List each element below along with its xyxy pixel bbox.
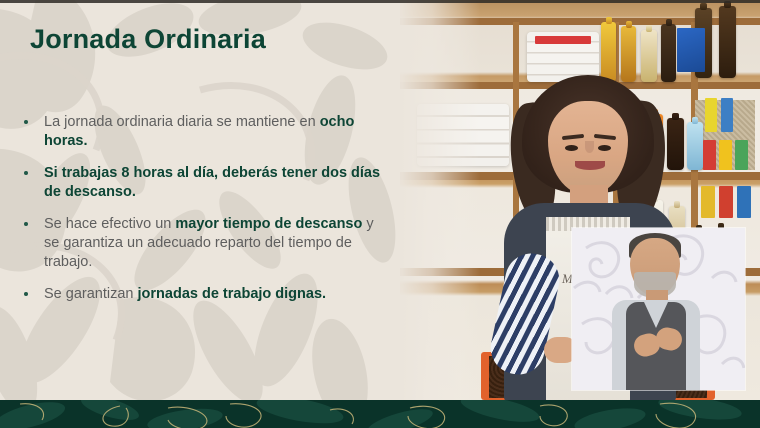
presentation-slide: Mony <box>0 0 760 428</box>
page-title: Jornada Ordinaria <box>30 24 266 55</box>
top-rule <box>0 0 760 3</box>
sign-language-interpreter-inset <box>572 228 745 390</box>
vinegar-bottle <box>661 24 676 82</box>
product-packet <box>735 140 748 170</box>
band-leaf-pattern <box>0 400 760 428</box>
product-packet <box>737 186 751 218</box>
bullet-list: La jornada ordinaria diaria se mantiene … <box>20 113 390 317</box>
sack-label <box>535 36 591 44</box>
list-item: La jornada ordinaria diaria se mantiene … <box>20 113 390 151</box>
list-item: Si trabajas 8 horas al día, deberás tene… <box>20 164 390 202</box>
list-item: Se hace efectivo un mayor tiempo de desc… <box>20 215 390 272</box>
water-bottle <box>687 122 703 170</box>
vinegar-bottle <box>719 6 736 78</box>
eyebrow <box>594 134 616 140</box>
oil-bottle <box>601 22 616 82</box>
list-item: Se garantizan jornadas de trabajo dignas… <box>20 285 390 304</box>
product-packet <box>701 186 715 218</box>
bottom-decorative-band <box>0 400 760 428</box>
nose <box>585 141 594 153</box>
product-packet <box>703 140 716 170</box>
product-packet <box>705 98 717 132</box>
eye <box>598 145 611 151</box>
eyebrow <box>562 134 584 140</box>
product-packet <box>719 186 733 218</box>
eye <box>565 145 578 151</box>
product-packet <box>719 140 732 170</box>
oil-bottle <box>621 26 636 82</box>
product-packet <box>721 98 733 132</box>
mouth <box>575 161 605 170</box>
product-packet <box>677 28 705 72</box>
